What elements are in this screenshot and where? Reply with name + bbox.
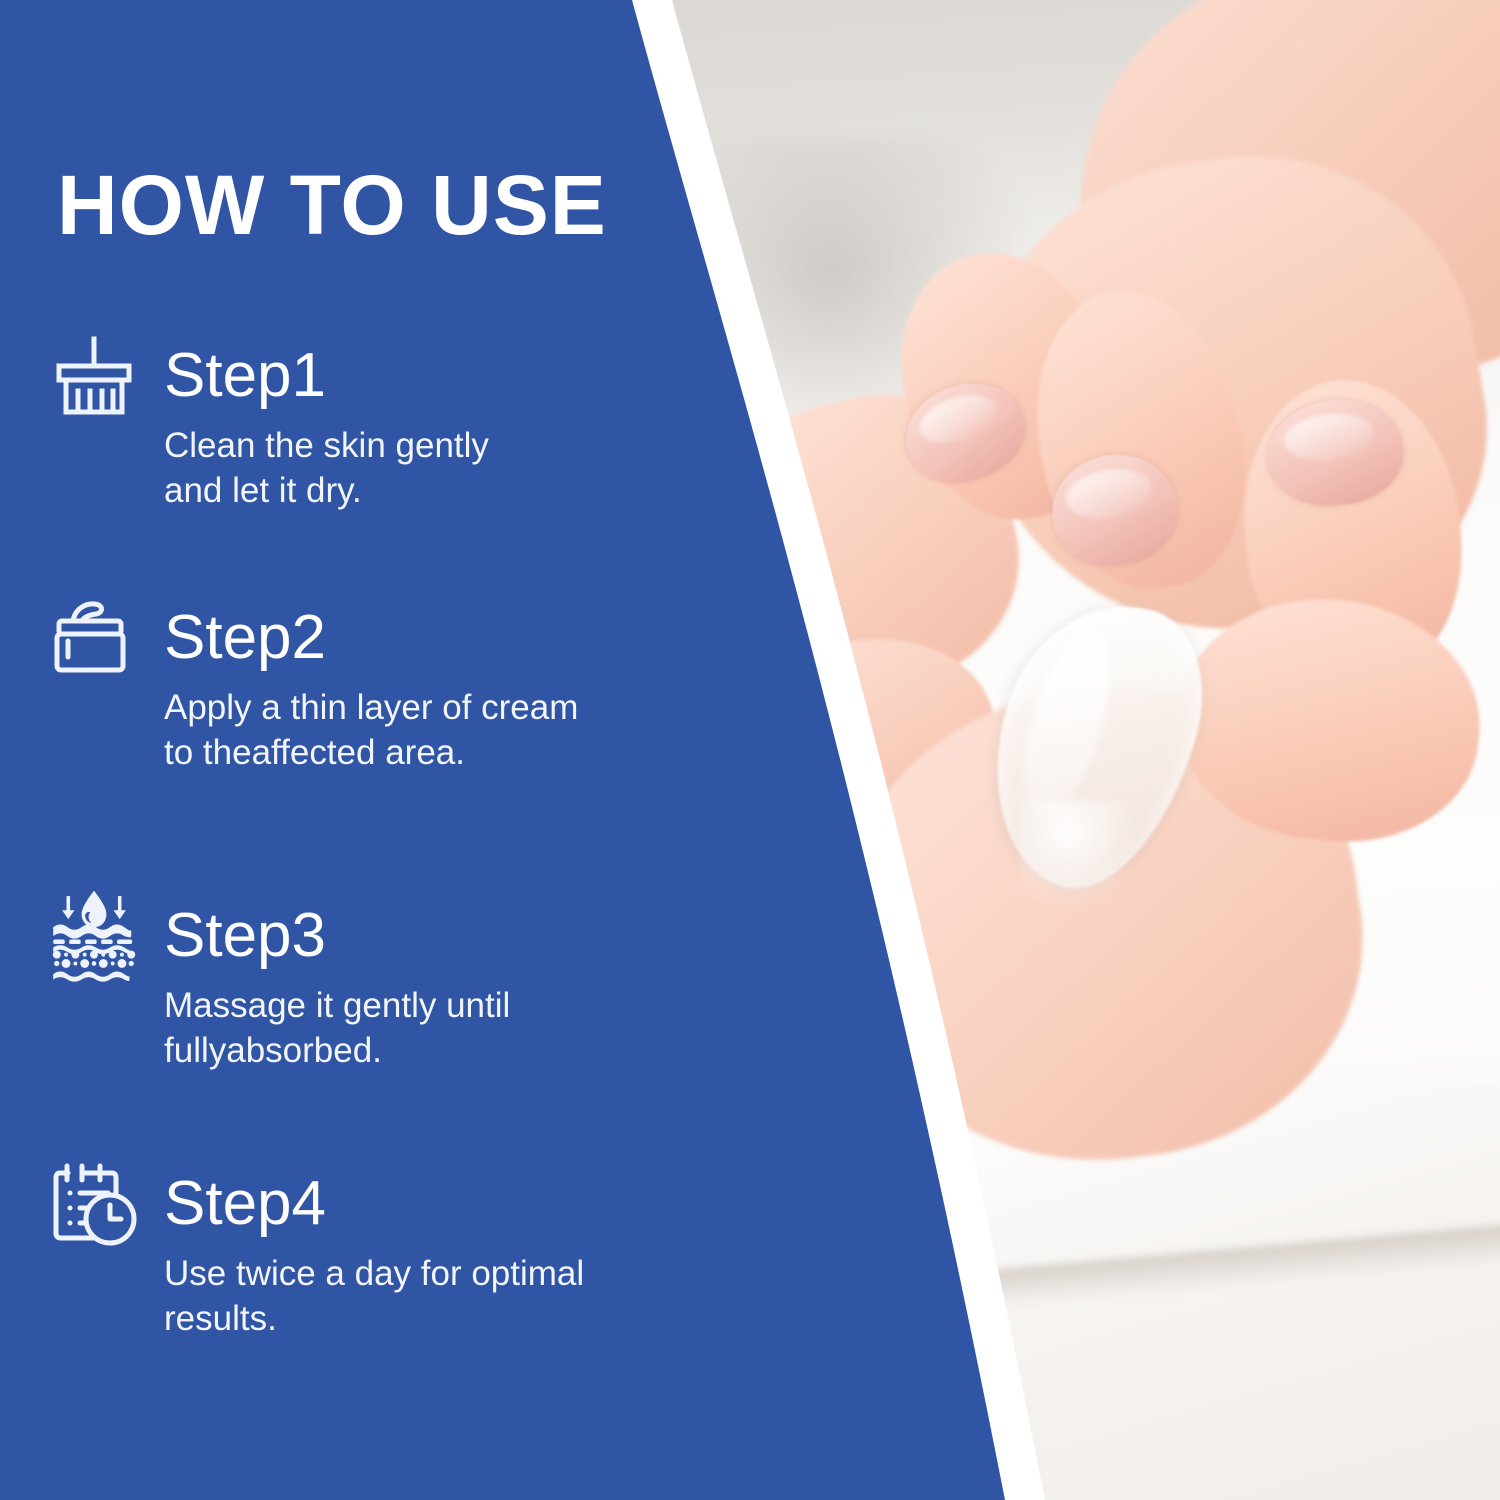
- schedule-clock-icon: [46, 1158, 142, 1250]
- page-title: HOW TO USE: [57, 163, 607, 247]
- step-4-label: Step4: [164, 1173, 326, 1235]
- step-3-description: Massage it gently until fullyabsorbed.: [164, 984, 694, 1074]
- step-4-header: Step4: [46, 1158, 706, 1250]
- step-1-description: Clean the skin gently and let it dry.: [164, 424, 694, 514]
- instructions-content: HOW TO USE Step1 Clean the ski: [0, 0, 700, 1500]
- photo-cream-spread: [1020, 800, 1140, 910]
- infographic-canvas: HOW TO USE Step1 Clean the ski: [0, 0, 1500, 1500]
- cleaning-brush-icon: [46, 330, 142, 422]
- step-2-description: Apply a thin layer of cream to theaffect…: [164, 686, 694, 776]
- step-item-4: Step4 Use twice a day for optimal result…: [46, 1158, 706, 1342]
- skin-absorption-icon: [46, 890, 142, 982]
- step-2-label: Step2: [164, 607, 326, 669]
- step-item-3: Step3 Massage it gently until fullyabsor…: [46, 890, 706, 1074]
- cream-jar-icon: [46, 592, 142, 684]
- step-1-header: Step1: [46, 330, 706, 422]
- step-item-1: Step1 Clean the skin gently and let it d…: [46, 330, 706, 514]
- step-1-label: Step1: [164, 345, 326, 407]
- step-item-2: Step2 Apply a thin layer of cream to the…: [46, 592, 706, 776]
- step-4-description: Use twice a day for optimal results.: [164, 1252, 706, 1342]
- step-3-header: Step3: [46, 890, 706, 982]
- step-2-header: Step2: [46, 592, 706, 684]
- step-3-label: Step3: [164, 905, 326, 967]
